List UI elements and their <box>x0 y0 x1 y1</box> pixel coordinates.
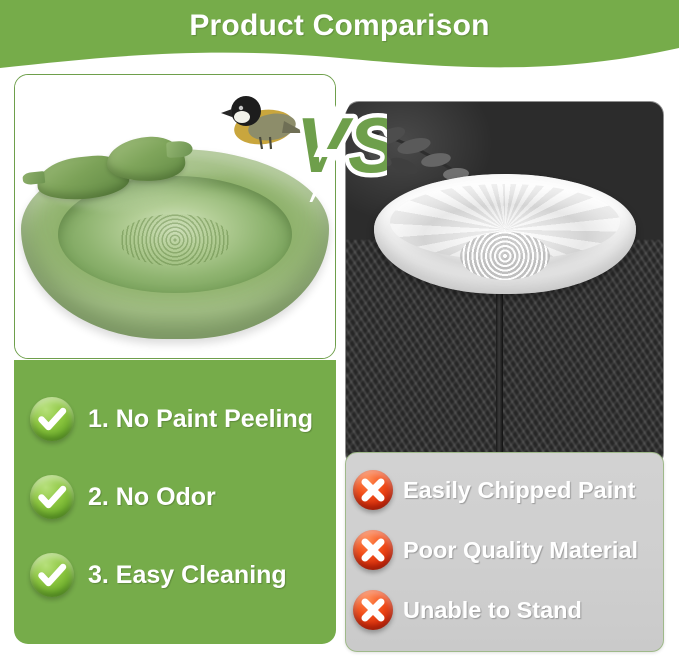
pros-list: 1. No Paint Peeling 2. No Odor 3. Easy C… <box>30 390 328 624</box>
ceramic-bird-figurine-right <box>106 135 186 183</box>
check-icon <box>30 553 74 597</box>
header-banner: Product Comparison <box>0 0 679 72</box>
pro-label: 2. No Odor <box>88 483 216 512</box>
list-item: 1. No Paint Peeling <box>30 390 328 448</box>
page-title: Product Comparison <box>0 9 679 43</box>
check-icon <box>30 475 74 519</box>
con-label: Unable to Stand <box>403 597 582 624</box>
birdbath-stake-pole <box>496 287 503 459</box>
list-item: 2. No Odor <box>30 468 328 526</box>
vs-badge: VS VS <box>295 100 387 202</box>
pro-label: 1. No Paint Peeling <box>88 405 313 434</box>
pro-label: 3. Easy Cleaning <box>88 561 287 590</box>
check-icon <box>30 397 74 441</box>
perched-bird-icon <box>220 83 306 157</box>
x-icon <box>353 530 393 570</box>
list-item: Poor Quality Material <box>353 527 659 573</box>
left-product-photo <box>15 75 335 358</box>
list-item: Unable to Stand <box>353 587 659 633</box>
list-item: Easily Chipped Paint <box>353 467 659 513</box>
cons-list: Easily Chipped Paint Poor Quality Materi… <box>353 467 659 647</box>
x-icon <box>353 470 393 510</box>
pros-panel: 1. No Paint Peeling 2. No Odor 3. Easy C… <box>14 360 336 644</box>
cons-panel: Easily Chipped Paint Poor Quality Materi… <box>345 452 664 652</box>
dish-concentric-rings <box>460 232 549 280</box>
right-product-photo-frame <box>345 101 664 467</box>
list-item: 3. Easy Cleaning <box>30 546 328 604</box>
birdbath-medallion-pattern <box>119 214 231 266</box>
x-icon <box>353 590 393 630</box>
clear-birdbath-dish <box>374 174 636 294</box>
left-product-photo-frame <box>14 74 336 359</box>
con-label: Poor Quality Material <box>403 537 638 564</box>
con-label: Easily Chipped Paint <box>403 477 635 504</box>
